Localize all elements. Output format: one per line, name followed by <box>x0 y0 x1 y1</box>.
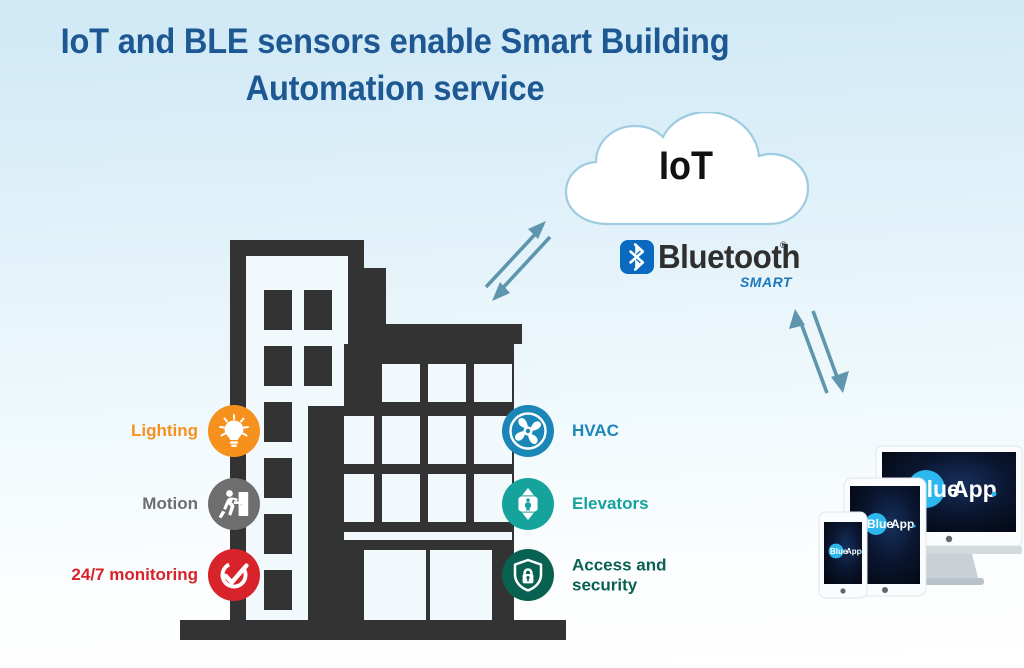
check-refresh-icon <box>216 557 252 593</box>
feature-lighting[interactable]: Lighting <box>20 405 260 457</box>
page-title: IoT and BLE sensors enable Smart Buildin… <box>28 18 763 113</box>
running-person-exit-icon <box>217 487 251 521</box>
bluetooth-tagline: SMART <box>620 274 792 290</box>
arrows-cloud-to-devices <box>785 305 860 400</box>
monitoring-icon-badge[interactable] <box>208 549 260 601</box>
feature-elevators[interactable]: Elevators <box>502 478 762 530</box>
iot-cloud: IoT <box>556 112 816 237</box>
svg-text:Blue: Blue <box>867 517 893 531</box>
feature-motion-label: Motion <box>142 494 198 514</box>
bluetooth-smart-logo: Bluetooth ® SMART <box>620 240 800 290</box>
feature-motion[interactable]: Motion <box>20 478 260 530</box>
device-phone: Blue App <box>819 512 867 598</box>
hvac-icon-badge[interactable] <box>502 405 554 457</box>
blueapp-device-mockups: Blue App Blue App Blue App <box>818 432 1024 612</box>
feature-security-label: Access and security <box>572 555 667 594</box>
svg-text:App: App <box>846 547 862 556</box>
feature-hvac-label: HVAC <box>572 421 619 441</box>
lighting-icon-badge[interactable] <box>208 405 260 457</box>
bluetooth-rune-icon <box>620 240 654 274</box>
elevator-icon <box>511 487 545 521</box>
devices-illustration: Blue App Blue App Blue App <box>818 432 1024 612</box>
feature-security[interactable]: Access and security <box>502 549 762 601</box>
fan-icon <box>509 412 547 450</box>
cloud-label: IoT <box>569 144 803 189</box>
elevators-icon-badge[interactable] <box>502 478 554 530</box>
security-icon-badge[interactable] <box>502 549 554 601</box>
feature-elevators-label: Elevators <box>572 494 649 514</box>
registered-trademark-icon: ® <box>780 240 787 250</box>
infographic-canvas: IoT and BLE sensors enable Smart Buildin… <box>0 0 1024 668</box>
feature-hvac[interactable]: HVAC <box>502 405 762 457</box>
feature-monitoring[interactable]: 24/7 monitoring <box>20 549 260 601</box>
bluetooth-wordmark: Bluetooth <box>658 238 800 276</box>
feature-lighting-label: Lighting <box>131 421 198 441</box>
bidirectional-arrow-icon <box>785 305 860 400</box>
motion-icon-badge[interactable] <box>208 478 260 530</box>
shield-lock-icon <box>511 558 545 592</box>
feature-monitoring-label: 24/7 monitoring <box>71 565 198 585</box>
svg-text:App: App <box>952 476 997 502</box>
svg-text:App: App <box>891 517 914 531</box>
lightbulb-icon <box>216 413 252 449</box>
